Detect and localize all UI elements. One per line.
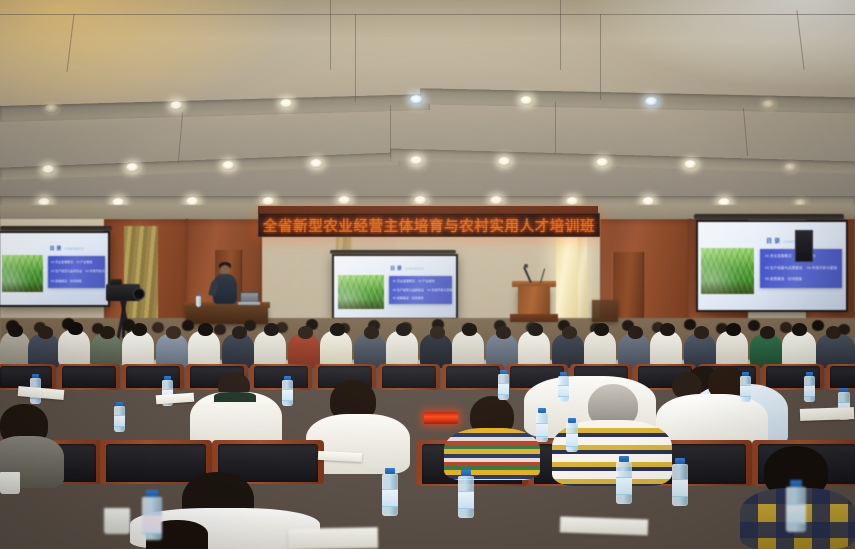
audience-torso: [156, 334, 188, 368]
slide-content-box: 01 农业发展概况 02 产业规划 03 生产经营与品牌建设 04 市场开拓与营…: [389, 276, 452, 304]
right-projection-screen: 目 录 CONTENTS 01 农业发展概况 02 产业规划 03 生产经营与品…: [696, 220, 848, 312]
ceiling-downlight: [410, 95, 423, 104]
center-projection-screen: 目 录 CONTENTS 01 农业发展概况 02 产业规划 03 生产经营与品…: [332, 254, 458, 320]
audience-head: [628, 326, 643, 339]
audience-torso: [288, 334, 320, 368]
audience-head: [166, 326, 181, 339]
slide-title: 目 录 CONTENTS: [390, 265, 424, 272]
ceiling-downlight: [338, 196, 351, 205]
water-bottle[interactable]: [672, 458, 688, 506]
bottle-label: [498, 383, 509, 395]
ceiling-downlight: [222, 161, 235, 170]
audience-head: [496, 326, 511, 339]
water-bottle[interactable]: [616, 456, 632, 504]
slide-row: 01 农业发展概况 02 产业规划: [393, 279, 450, 283]
bottle-label: [142, 514, 162, 534]
ceiling-downlight: [45, 104, 58, 113]
water-bottle[interactable]: [196, 294, 201, 307]
microphone-head: [524, 264, 528, 268]
bottle-label: [740, 385, 751, 397]
audience-head: [826, 326, 841, 339]
slide-row-item: 05 政策解读 · 扶持措施: [51, 279, 82, 283]
audience-torso: [254, 331, 286, 367]
ceiling-seam: [743, 108, 748, 156]
audience-head: [694, 326, 709, 339]
ceiling-downlight: [170, 101, 183, 110]
bottle-label: [382, 489, 398, 507]
audience-torso: [0, 332, 30, 366]
audience-torso: [716, 331, 748, 367]
audience-head: [812, 320, 824, 331]
audience-head: [760, 326, 775, 339]
audience-head: [100, 326, 115, 339]
slide-title-en: CONTENTS: [405, 267, 424, 271]
chair-back: [446, 366, 500, 388]
window-curtain: [124, 226, 158, 330]
laptop-keyboard: [238, 302, 260, 305]
conference-hall-photo: 全省新型农业经营主体培育与农村实用人才培训班 目 录 CONTENTS 01 农…: [0, 0, 855, 549]
audience-torso: [816, 334, 855, 368]
ceiling-downlight: [520, 96, 533, 105]
audience-torso: [90, 334, 122, 368]
slide-row: 05 政策解读 · 扶持措施: [51, 279, 103, 283]
audience-head: [430, 326, 445, 339]
bottle-label: [282, 389, 293, 401]
bottle-label: [804, 385, 815, 397]
bottle-label: [786, 504, 806, 524]
audience-head: [68, 322, 83, 335]
led-banner-text: 全省新型农业经营主体培育与农村实用人才培训班: [263, 215, 596, 236]
slide-row-item: 01 农业发展概况: [393, 279, 415, 283]
chair-back: [382, 366, 436, 388]
slide-row-item: 01 农业发展概况: [51, 260, 73, 264]
audience-head: [594, 323, 609, 336]
audience-torso: [486, 334, 518, 368]
video-camera-lens: [133, 288, 145, 300]
audience-head: [182, 320, 194, 331]
slide-row: 03 生产经营与品牌建设 04 市场开拓与营销: [51, 269, 103, 273]
ceiling-downlight: [498, 157, 511, 166]
slide-row: 05 政策解读 · 扶持措施: [393, 296, 450, 300]
slide-row-item: 02 产业规划: [418, 279, 434, 283]
audience-head: [528, 323, 543, 336]
bottle-cap: [146, 490, 158, 497]
slide-title-cn: 目 录: [766, 236, 780, 245]
paper-cup[interactable]: [0, 472, 20, 494]
slide-title: 目 录 CONTENTS: [50, 245, 84, 252]
ceiling-downlight: [490, 196, 503, 205]
slide-title-cn: 目 录: [390, 265, 402, 272]
audience-head: [198, 323, 213, 336]
audience-head: [132, 323, 147, 336]
audience-head: [726, 323, 741, 336]
audience-torso: [320, 331, 352, 367]
audience-head: [264, 323, 279, 336]
slide-row: 03 生产经营与品牌建设 04 市场开拓与营销: [765, 266, 838, 271]
audience-torso: [188, 331, 220, 367]
slide-title-en: CONTENTS: [64, 247, 83, 251]
handout-paper[interactable]: [288, 527, 378, 549]
slide-photo: [2, 255, 43, 292]
bottle-body: [196, 296, 201, 307]
chair-back: [62, 366, 116, 388]
audience-torso: [650, 331, 682, 367]
ceiling-downlight: [410, 156, 423, 165]
slide-row-item: 04 市场开拓与营销: [807, 266, 837, 271]
audience-torso: [518, 331, 550, 367]
audience-torso: [618, 334, 650, 368]
chair-back: [106, 444, 206, 482]
bottle-label: [616, 477, 632, 495]
chair-back: [254, 366, 308, 388]
audience-head: [8, 324, 23, 337]
slide-content-box: 01 农业发展概况 02 产业规划 03 生产经营与品牌建设 04 市场开拓与营…: [48, 256, 105, 288]
slide-row-item: 01 农业发展概况: [765, 254, 792, 259]
water-bottle[interactable]: [804, 372, 815, 402]
slide-left: 目 录 CONTENTS 01 农业发展概况 02 产业规划 03 生产经营与品…: [0, 233, 108, 305]
audience-head: [232, 326, 247, 339]
bottle-label: [536, 423, 548, 437]
slide-row-item: 03 生产经营与品牌建设: [393, 288, 424, 292]
audience-collar-dark: [214, 392, 256, 402]
ceiling-beam: [0, 152, 400, 180]
bottle-label: [672, 479, 688, 497]
water-bottle[interactable]: [114, 402, 125, 432]
slide-row: 05 政策解读 · 扶持措施: [765, 277, 838, 282]
presenter-laptop[interactable]: [238, 292, 260, 306]
water-bottle[interactable]: [382, 468, 398, 516]
audience-head: [152, 322, 164, 333]
ceiling-downlight: [310, 159, 323, 168]
audience-head: [660, 323, 675, 336]
speaker-presenter: [210, 262, 240, 306]
water-bottle[interactable]: [142, 490, 162, 540]
ceiling-downlight: [280, 99, 293, 108]
audience-head: [562, 326, 577, 339]
ceiling-seam: [560, 0, 561, 70]
ceiling: [0, 0, 855, 215]
audience-head: [792, 323, 807, 336]
audience-torso: [584, 331, 616, 367]
audience-torso: [386, 331, 418, 367]
water-bottle[interactable]: [558, 372, 569, 402]
ceiling-downlight: [784, 163, 797, 172]
slide-row-item: 03 生产经营与品牌建设: [765, 266, 802, 271]
handout-paper[interactable]: [560, 516, 649, 535]
audience-head: [330, 323, 345, 336]
audience-torso: [452, 331, 484, 367]
ceiling-downlight: [762, 100, 775, 109]
slide-row-item: 05 政策解读 · 扶持措施: [765, 277, 802, 282]
slide-row: 03 生产经营与品牌建设 04 市场开拓与营销: [393, 288, 450, 292]
audience-torso: [552, 334, 584, 368]
ceiling-downlight: [42, 165, 55, 174]
handout-paper[interactable]: [156, 393, 195, 405]
bottle-label: [558, 385, 569, 397]
audience-head: [748, 320, 760, 331]
water-bottle[interactable]: [786, 480, 806, 532]
audience-torso: [782, 331, 816, 367]
bottle-cap: [790, 480, 802, 487]
bottle-label: [566, 433, 578, 447]
audience-torso: [222, 334, 254, 368]
ceiling-downlight: [645, 97, 658, 106]
slide-right: 目 录 CONTENTS 01 农业发展概况 02 产业规划 03 生产经营与品…: [698, 222, 846, 310]
bottle-label: [458, 491, 474, 509]
ceiling-seam: [355, 14, 356, 102]
video-camera-viewfinder: [110, 279, 122, 285]
ceiling-seam: [390, 105, 391, 157]
slide-center: 目 录 CONTENTS 01 农业发展概况 02 产业规划 03 生产经营与品…: [334, 256, 456, 318]
handout-paper[interactable]: [800, 407, 854, 421]
paper-cup[interactable]: [104, 508, 130, 534]
audience-head: [214, 324, 226, 335]
ceiling-beam: [420, 88, 855, 113]
slide-row-item: 04 市场开拓与营销: [85, 269, 105, 273]
ceiling-seam: [555, 102, 556, 154]
left-projection-screen: 目 录 CONTENTS 01 农业发展概况 02 产业规划 03 生产经营与品…: [0, 231, 110, 307]
chair-back: [830, 366, 855, 388]
audience-head: [38, 326, 53, 339]
slide-photo: [338, 275, 384, 309]
slide-row-item: 03 生产经营与品牌建设: [51, 269, 82, 273]
ceiling-seam: [330, 0, 331, 70]
handout-paper[interactable]: [18, 386, 65, 400]
water-bottle[interactable]: [458, 470, 474, 518]
audience-torso: [354, 334, 386, 368]
audience-torso: [58, 330, 90, 366]
ceiling-downlight: [596, 158, 609, 167]
wall-loudspeaker: [795, 230, 813, 262]
slide-row-item: 05 政策解读 · 扶持措施: [393, 296, 424, 300]
audience-torso: [28, 334, 60, 368]
ceiling-seam: [0, 14, 855, 15]
water-bottle[interactable]: [740, 372, 751, 402]
ceiling-downlight: [684, 160, 697, 169]
slide-row-item: 04 市场开拓与营销: [427, 288, 452, 292]
water-bottle[interactable]: [498, 370, 509, 400]
led-banner: 全省新型农业经营主体培育与农村实用人才培训班: [258, 213, 600, 237]
audience-torso: [684, 334, 716, 368]
ceiling-seam: [600, 14, 601, 100]
audience-torso: [420, 334, 452, 368]
podium-base: [510, 314, 558, 322]
slide-row: 01 农业发展概况 02 产业规划: [51, 260, 103, 264]
water-bottle[interactable]: [566, 418, 578, 452]
doorway-light-center: [578, 236, 587, 322]
audience-head: [298, 326, 313, 339]
ceiling-downlight: [126, 163, 139, 172]
audience-head: [364, 326, 379, 339]
slide-title-cn: 目 录: [50, 245, 62, 252]
chair-back: [0, 366, 52, 388]
podium: [518, 286, 550, 316]
bottle-label: [114, 415, 125, 427]
side-table: [592, 300, 618, 322]
water-bottle[interactable]: [536, 408, 548, 442]
red-led-indicator: [424, 412, 458, 424]
audience-head: [396, 323, 411, 336]
head-table: [186, 306, 268, 324]
doorway-light-right: [556, 228, 578, 324]
slide-photo: [701, 248, 754, 294]
audience-head: [462, 323, 477, 336]
ceiling-downlight: [414, 196, 427, 205]
slide-row-item: 02 产业规划: [76, 260, 92, 264]
audience-torso: [122, 331, 154, 367]
audience-torso: [750, 334, 782, 368]
water-bottle[interactable]: [282, 376, 293, 406]
